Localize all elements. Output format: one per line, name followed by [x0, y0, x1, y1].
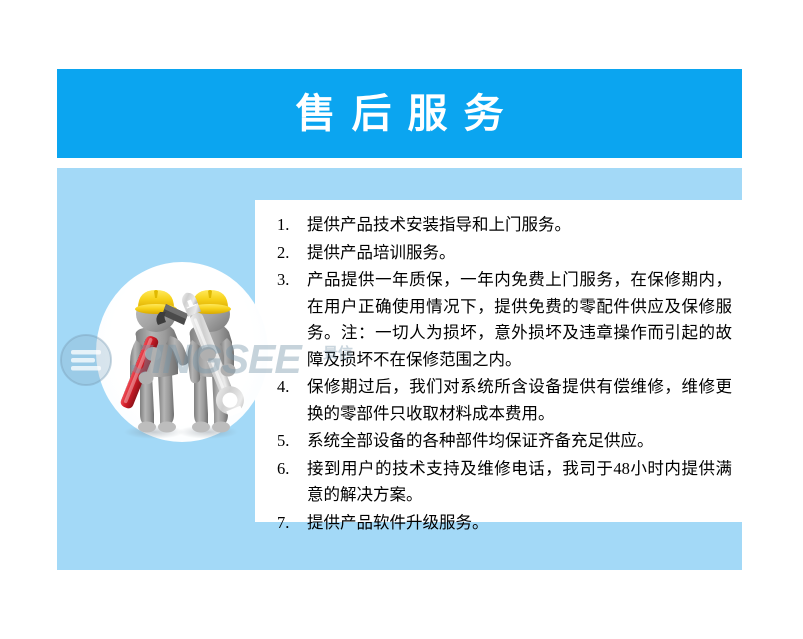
workers-illustration	[96, 262, 268, 454]
two-workers-figures-icon	[96, 262, 268, 454]
service-list: 提供产品技术安装指导和上门服务。 提供产品培训服务。 产品提供一年质保，一年内免…	[255, 200, 742, 536]
list-item: 提供产品培训服务。	[275, 240, 732, 267]
list-item: 接到用户的技术支持及维修电话，我司于48小时内提供满意的解决方案。	[275, 456, 732, 509]
content-card: 提供产品技术安装指导和上门服务。 提供产品培训服务。 产品提供一年质保，一年内免…	[255, 200, 742, 522]
header-banner: 售后服务	[57, 69, 742, 158]
list-item: 系统全部设备的各种部件均保证齐备充足供应。	[275, 428, 732, 455]
list-item: 提供产品软件升级服务。	[275, 510, 732, 537]
list-item: 产品提供一年质保，一年内免费上门服务，在保修期内，在用户正确使用情况下，提供免费…	[275, 267, 732, 373]
worker-with-hammer-figure	[119, 290, 188, 433]
list-item: 提供产品技术安装指导和上门服务。	[275, 212, 732, 239]
poster-page: 售后服务 提供产品技术安装指导和上门服务。 提供产品培训服务。 产品提供一年质保…	[0, 0, 803, 639]
list-item: 保修期过后，我们对系统所含设备提供有偿维修，维修更换的零部件只收取材料成本费用。	[275, 374, 732, 427]
page-title: 售后服务	[280, 94, 520, 134]
